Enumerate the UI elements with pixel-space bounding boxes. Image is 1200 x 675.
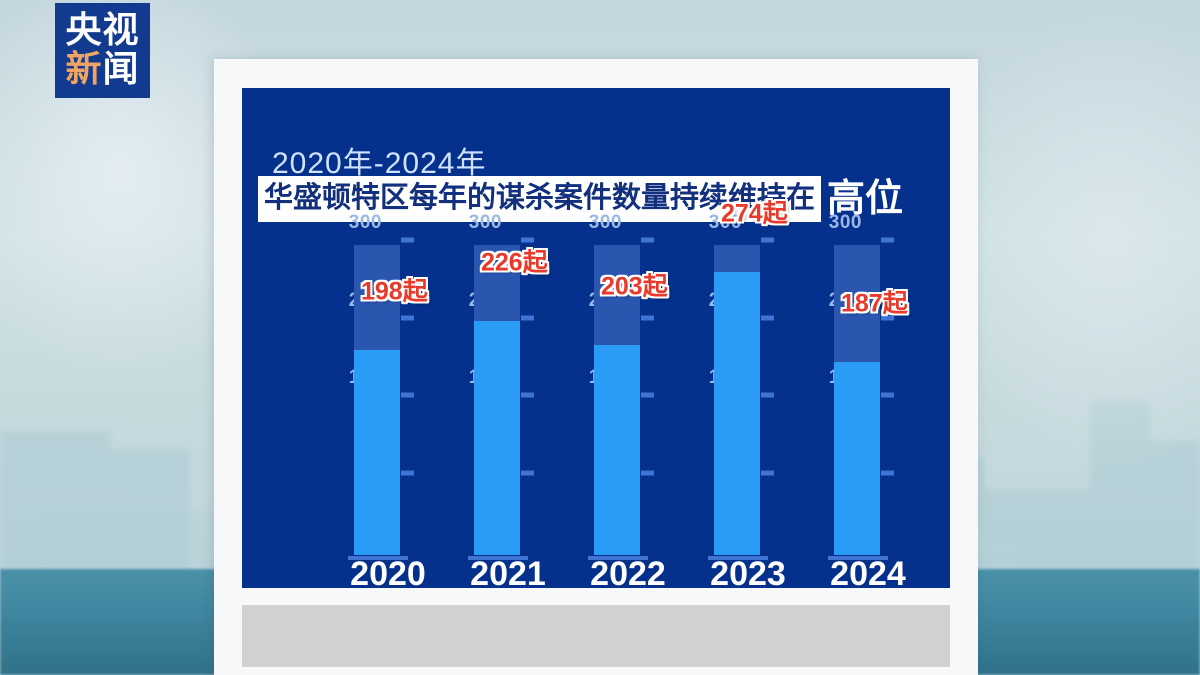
bar-value-label: 203起 xyxy=(601,267,668,303)
y-axis-label: 300 xyxy=(469,212,502,234)
text-block-placeholder-1 xyxy=(242,605,950,667)
bar-fill[interactable] xyxy=(594,345,640,555)
y-axis-tick xyxy=(761,315,774,320)
y-axis-tick xyxy=(881,238,894,243)
y-axis-tick xyxy=(761,238,774,243)
y-axis-tick xyxy=(401,315,414,320)
bar-value-label: 274起 xyxy=(721,193,788,229)
chart-panel: 2020年-2024年 华盛顿特区每年的谋杀案件数量持续维持在 高位 30022… xyxy=(242,88,950,588)
bar-column-2023: 30022515075274起 xyxy=(696,245,800,555)
bar-chart-plot-area: 30022515075198起30022515075226起3002251507… xyxy=(336,245,920,555)
bar-fill[interactable] xyxy=(354,350,400,555)
y-axis-tick xyxy=(401,470,414,475)
bar-value-label: 198起 xyxy=(361,272,428,308)
bar-track xyxy=(714,245,760,555)
x-axis-year-labels: 20202021202220232024 xyxy=(336,555,920,588)
logo-text-xin: 新 xyxy=(65,52,102,88)
graphic-card: 2020年-2024年 华盛顿特区每年的谋杀案件数量持续维持在 高位 30022… xyxy=(214,59,978,675)
y-axis-label: 300 xyxy=(349,212,382,234)
y-axis-tick xyxy=(521,393,534,398)
bar-value-label: 226起 xyxy=(481,243,548,279)
y-axis-tick xyxy=(641,470,654,475)
bar-track xyxy=(474,245,520,555)
bar-column-2024: 30022515075187起 xyxy=(816,245,920,555)
y-axis-tick xyxy=(881,393,894,398)
x-axis-label-2022: 2022 xyxy=(576,555,680,588)
y-axis-tick xyxy=(521,238,534,243)
y-axis-label: 300 xyxy=(589,212,622,234)
logo-text-wen: 闻 xyxy=(103,52,140,88)
x-axis-label-2023: 2023 xyxy=(696,555,800,588)
y-axis-tick xyxy=(641,238,654,243)
broadcast-graphic-stage: 央视 新 闻 2020年-2024年 华盛顿特区每年的谋杀案件数量持续维持在 高… xyxy=(0,0,1200,675)
cctv-news-logo: 央视 新 闻 xyxy=(55,3,150,98)
y-axis-tick xyxy=(521,470,534,475)
x-axis-label-2024: 2024 xyxy=(816,555,920,588)
y-axis-tick xyxy=(521,315,534,320)
y-axis-tick xyxy=(881,470,894,475)
y-axis-tick xyxy=(641,315,654,320)
y-axis-tick xyxy=(641,393,654,398)
bar-fill[interactable] xyxy=(474,321,520,555)
bar-fill[interactable] xyxy=(714,272,760,555)
y-axis-tick xyxy=(761,470,774,475)
y-axis-tick xyxy=(401,393,414,398)
bar-column-2021: 30022515075226起 xyxy=(456,245,560,555)
x-axis-label-2020: 2020 xyxy=(336,555,440,588)
bar-fill[interactable] xyxy=(834,362,880,555)
bar-value-label: 187起 xyxy=(841,283,908,319)
bar-column-2020: 30022515075198起 xyxy=(336,245,440,555)
y-axis-tick xyxy=(761,393,774,398)
logo-text-yangshi: 央视 xyxy=(65,13,139,49)
bar-column-2022: 30022515075203起 xyxy=(576,245,680,555)
y-axis-label: 300 xyxy=(829,212,862,234)
y-axis-tick xyxy=(401,238,414,243)
x-axis-label-2021: 2021 xyxy=(456,555,560,588)
